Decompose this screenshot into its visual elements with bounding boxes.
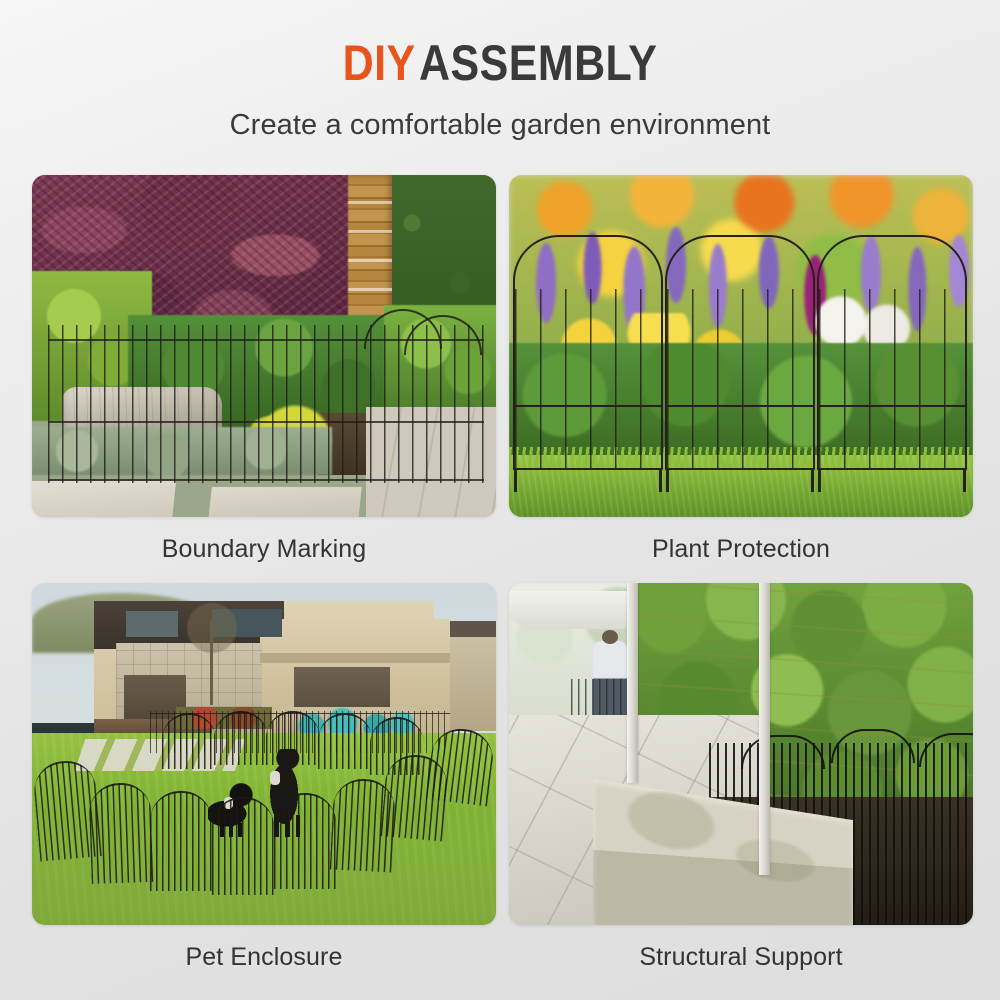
caption-boundary-marking: Boundary Marking [32, 517, 496, 570]
fence-enclosure-ring [32, 583, 496, 925]
title-keyword: DIY [343, 35, 416, 91]
feature-card-boundary-marking: Boundary Marking [32, 175, 496, 570]
panel-rail [667, 405, 813, 407]
fence-panel-2 [665, 235, 815, 470]
enclosure-segment-far [162, 713, 216, 769]
header: DIYASSEMBLY Create a comfortable garden … [0, 0, 1000, 142]
panel-stake-left [514, 468, 517, 492]
enclosure-segment [212, 797, 274, 895]
photo-pet-enclosure [32, 583, 496, 925]
paving-slab-1 [32, 481, 176, 517]
photo-structural-support [509, 583, 973, 925]
panel-arch-top [665, 235, 815, 281]
panel-body [665, 279, 815, 470]
page-title: DIYASSEMBLY [70, 38, 930, 88]
paving-slab-2 [208, 487, 362, 517]
enclosure-segment [426, 725, 496, 806]
caption-pet-enclosure: Pet Enclosure [32, 925, 496, 978]
panel-arch-top [817, 235, 967, 281]
fence-rail-mid [48, 421, 484, 423]
enclosure-segment [150, 791, 212, 891]
feature-card-plant-protection: Plant Protection [509, 175, 973, 570]
panel-wires [515, 289, 661, 468]
caption-structural-support: Structural Support [509, 925, 973, 978]
panel-stake-right [963, 468, 966, 492]
title-rest: ASSEMBLY [419, 35, 657, 91]
panel-stake-left [818, 468, 821, 492]
feature-grid: Boundary Marking [32, 175, 968, 978]
wire-border-fence [48, 325, 484, 483]
fence-panel-row [513, 235, 969, 470]
panel-wires [819, 289, 965, 468]
enclosure-segment-far [266, 711, 320, 765]
infographic-page: DIYASSEMBLY Create a comfortable garden … [0, 0, 1000, 1000]
fence-panel-3 [817, 235, 967, 470]
page-subtitle: Create a comfortable garden environment [0, 109, 1000, 142]
feature-card-structural-support: Structural Support [509, 583, 973, 978]
panel-stake-left [666, 468, 669, 492]
panel-wires [667, 289, 813, 468]
panel-body [513, 279, 663, 470]
fence-rail-bottom [48, 479, 484, 481]
enclosure-segment-far [318, 713, 372, 769]
panel-rail [515, 405, 661, 407]
enclosure-segment-far [214, 711, 268, 765]
caption-plant-protection: Plant Protection [509, 517, 973, 570]
panel-rail [819, 405, 965, 407]
panel-body [817, 279, 967, 470]
support-post-2 [759, 583, 770, 875]
panel-stake-right [659, 468, 662, 492]
photo-plant-protection [509, 175, 973, 517]
enclosure-segment-far [370, 717, 424, 775]
panel-arch-top [513, 235, 663, 281]
feature-card-pet-enclosure: Pet Enclosure [32, 583, 496, 978]
support-post-1 [627, 583, 638, 783]
enclosure-segment [274, 793, 336, 889]
photo-boundary-marking [32, 175, 496, 517]
panel-stake-right [811, 468, 814, 492]
fence-panel-1 [513, 235, 663, 470]
enclosure-segment [88, 782, 153, 884]
